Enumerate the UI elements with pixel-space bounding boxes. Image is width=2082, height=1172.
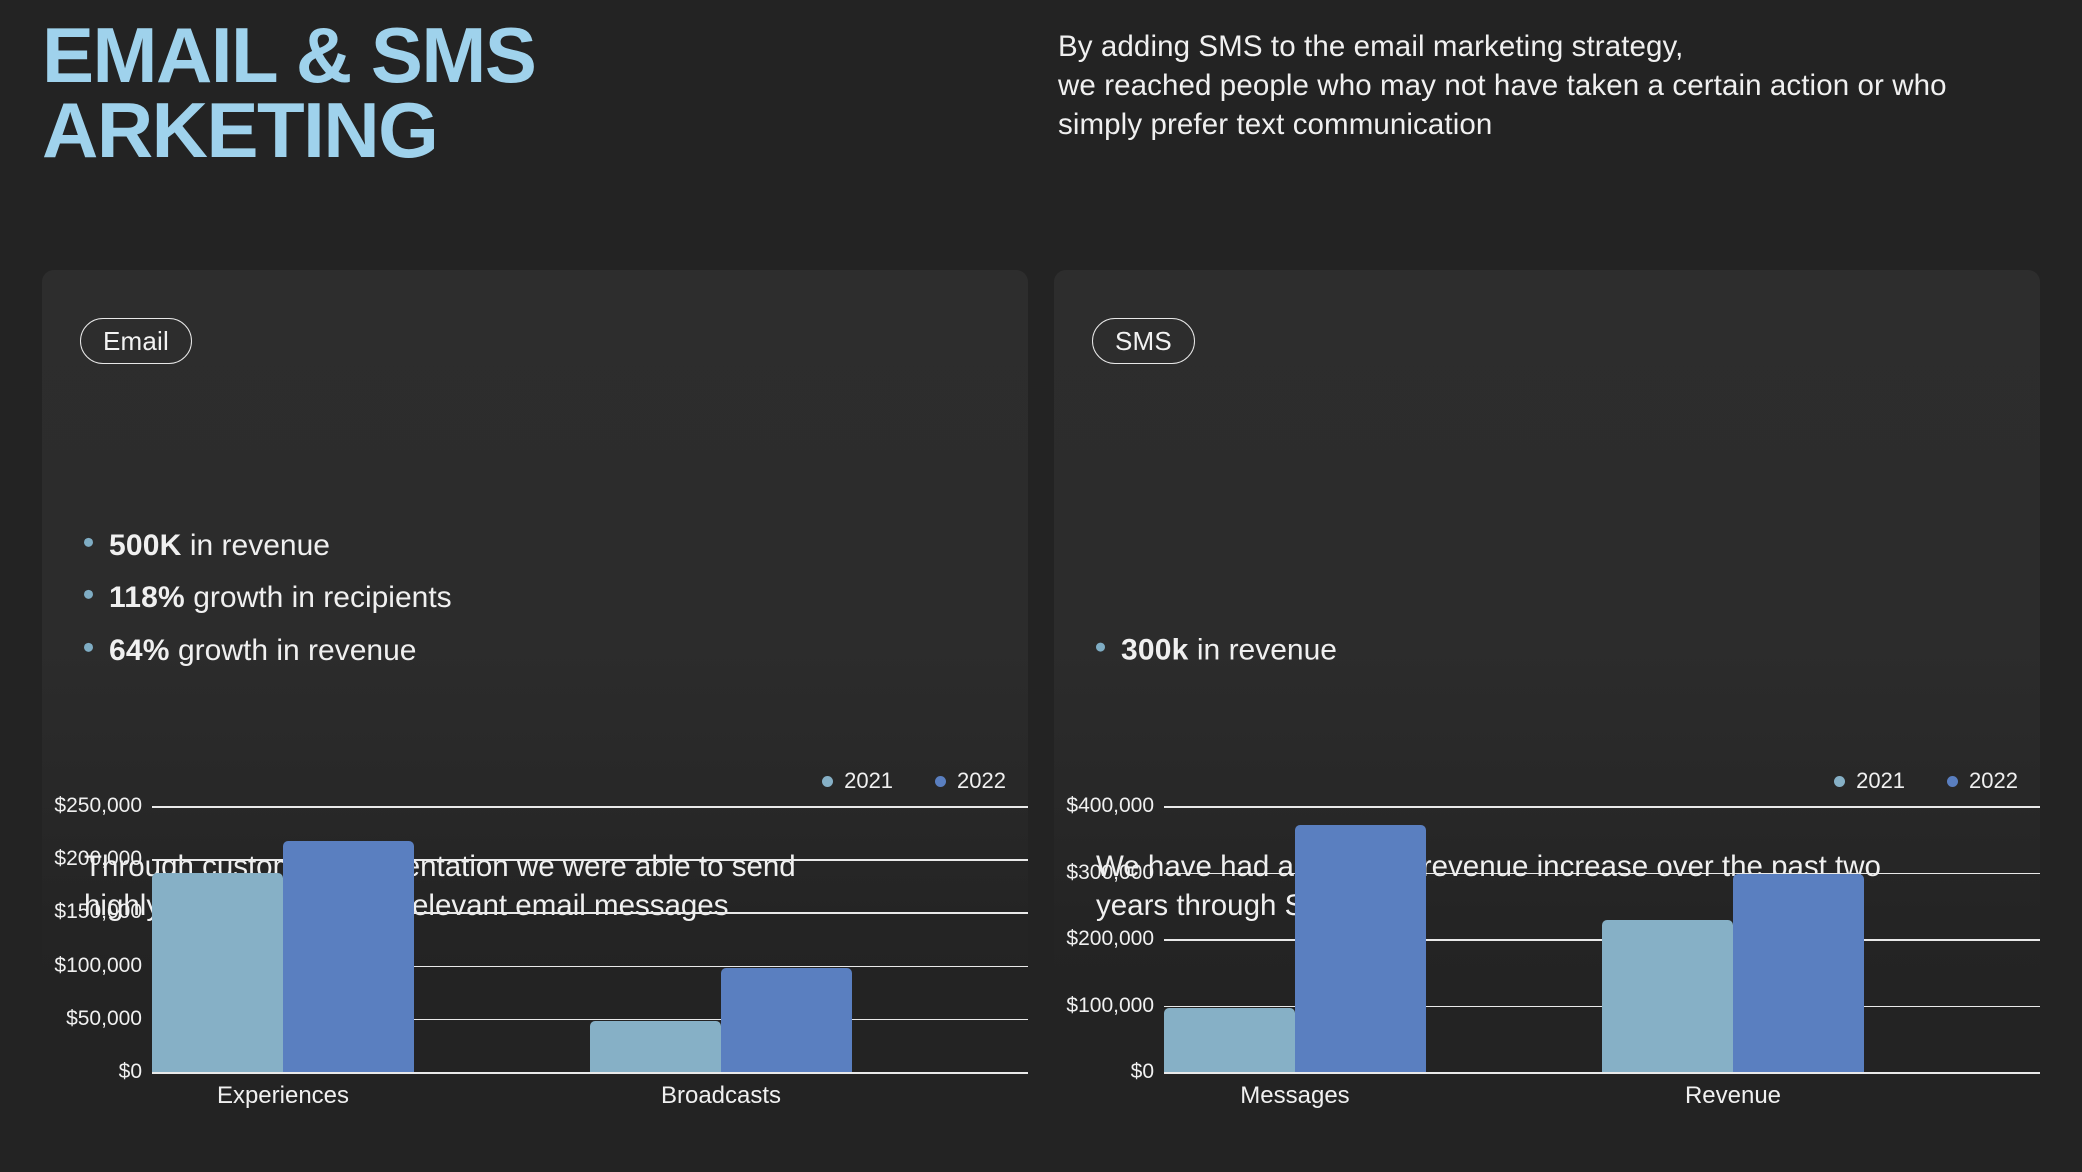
legend-label: 2021 [844,768,893,794]
chart-sms: 2021 2022 $0$100,000$200,000$300,000$400… [1054,788,2040,1118]
bullet-strong: 300k [1121,634,1189,667]
list-item: 64% growth in revenue [84,633,964,668]
list-item: 500K in revenue [84,528,964,563]
bullet-strong: 500K [109,529,182,562]
bar-group-messages [1164,806,1602,1072]
chart-plot-area: $0$50,000$100,000$150,000$200,000$250,00… [42,806,1028,1072]
bullet-list-sms: 300k in revenue [1096,633,1976,668]
bullet-rest: growth in recipients [185,581,452,614]
bar-broadcasts-2022 [721,968,852,1072]
page-title: EMAIL & SMS ARKETING [42,18,782,168]
legend-swatch-icon [935,776,946,787]
intro-line-2: we reached people who may not have taken… [1058,67,2048,106]
intro-line-1: By adding SMS to the email marketing str… [1058,28,2048,67]
page-title-line-2: ARKETING [42,86,437,174]
y-axis-tick-label: $50,000 [66,1007,142,1031]
bullet-rest: in revenue [182,529,330,562]
x-axis-group: Revenue [1602,1082,2040,1110]
y-axis-tick-label: $300,000 [1066,861,1154,885]
legend-item-2022: 2022 [935,768,1006,794]
y-axis-tick-label: $0 [1131,1060,1154,1084]
x-axis-tick-label: Experiences [152,1082,414,1110]
legend-label: 2021 [1856,768,1905,794]
intro-paragraph: By adding SMS to the email marketing str… [1058,28,2048,145]
chart-email: 2021 2022 $0$50,000$100,000$150,000$200,… [42,788,1028,1118]
legend-item-2021: 2021 [822,768,893,794]
card-email: Email 500K in revenue 118% growth in rec… [42,270,1028,982]
bullet-strong: 118% [109,581,185,614]
intro-line-3: simply prefer text communication [1058,106,2048,145]
bar-experiences-2022 [283,841,414,1072]
bar-container [152,806,1028,1072]
bullet-rest: growth in revenue [170,634,417,667]
legend-label: 2022 [1969,768,2018,794]
y-axis-tick-label: $400,000 [1066,794,1154,818]
bullet-rest: in revenue [1189,634,1337,667]
y-axis: $0$100,000$200,000$300,000$400,000 [1054,806,1162,1072]
y-axis-tick-label: $200,000 [1066,927,1154,951]
bar-revenue-2022 [1733,874,1864,1072]
x-axis-group: Experiences [152,1082,590,1110]
bar-messages-2021 [1164,1008,1295,1073]
x-axis: MessagesRevenue [1164,1082,2040,1110]
chart-plot-area: $0$100,000$200,000$300,000$400,000 Messa… [1054,806,2040,1072]
list-item: 118% growth in recipients [84,580,964,615]
bar-container [1164,806,2040,1072]
y-axis-tick-label: $250,000 [54,794,142,818]
x-axis-tick-label: Revenue [1602,1082,1864,1110]
chart-legend: 2021 2022 [1834,768,2018,794]
x-axis: ExperiencesBroadcasts [152,1082,1028,1110]
gridline [152,1072,1028,1074]
bar-revenue-2021 [1602,920,1733,1072]
bullet-dot-icon [84,643,93,652]
legend-label: 2022 [957,768,1006,794]
legend-item-2022: 2022 [1947,768,2018,794]
y-axis-tick-label: $100,000 [54,954,142,978]
bar-messages-2022 [1295,825,1426,1072]
legend-item-2021: 2021 [1834,768,1905,794]
card-sms: SMS 300k in revenue We have had a consta… [1054,270,2040,982]
bar-experiences-2021 [152,873,283,1072]
x-axis-group: Broadcasts [590,1082,1028,1110]
slide-root: EMAIL & SMS ARKETING By adding SMS to th… [0,0,2082,1172]
x-axis-group: Messages [1164,1082,1602,1110]
legend-swatch-icon [1834,776,1845,787]
badge-email: Email [80,318,192,364]
legend-swatch-icon [822,776,833,787]
y-axis: $0$50,000$100,000$150,000$200,000$250,00… [42,806,150,1072]
x-axis-tick-label: Broadcasts [590,1082,852,1110]
bar-broadcasts-2021 [590,1021,721,1072]
slide-header: EMAIL & SMS ARKETING By adding SMS to th… [0,0,2082,268]
bullet-dot-icon [1096,643,1105,652]
y-axis-tick-label: $150,000 [54,900,142,924]
x-axis-tick-label: Messages [1164,1082,1426,1110]
bar-group-broadcasts [590,806,1028,1072]
gridline [1164,1072,2040,1074]
bullet-dot-icon [84,538,93,547]
legend-swatch-icon [1947,776,1958,787]
bar-group-revenue [1602,806,2040,1072]
bullet-strong: 64% [109,634,170,667]
chart-legend: 2021 2022 [822,768,1006,794]
list-item: 300k in revenue [1096,633,1976,668]
badge-sms: SMS [1092,318,1195,364]
bullet-dot-icon [84,590,93,599]
y-axis-tick-label: $0 [119,1060,142,1084]
bullet-list-email: 500K in revenue 118% growth in recipient… [84,528,964,668]
bar-group-experiences [152,806,590,1072]
y-axis-tick-label: $200,000 [54,847,142,871]
y-axis-tick-label: $100,000 [1066,994,1154,1018]
